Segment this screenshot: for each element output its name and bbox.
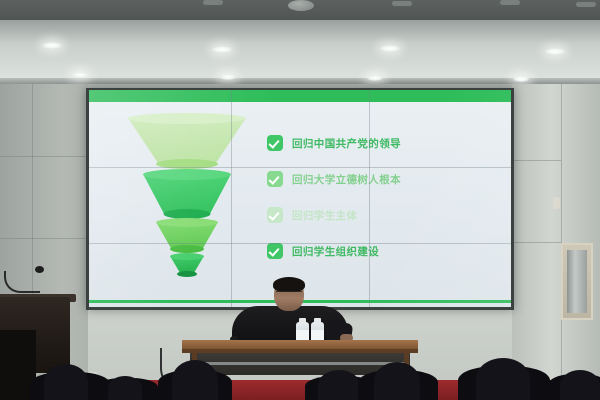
ceiling-vent-icon — [576, 2, 596, 7]
ceiling-downlight — [212, 46, 232, 53]
ceiling-downlight — [72, 72, 88, 78]
bottle-label — [296, 330, 309, 340]
smoke-detector-icon — [288, 0, 314, 11]
ceiling-downlight — [220, 74, 236, 80]
checklist-item-label: 回归中国共产党的领导 — [292, 136, 401, 151]
funnel-segment-1 — [128, 118, 246, 164]
checklist-item-label: 回归大学立德树人根本 — [292, 172, 401, 187]
funnel-cone-3 — [156, 222, 218, 248]
bottle-cap — [299, 318, 306, 323]
wall-panel-seam — [512, 160, 561, 161]
funnel-cone-2 — [143, 174, 231, 214]
funnel-cone-4 — [170, 256, 204, 272]
bottle-label — [311, 330, 324, 340]
videowall-seam-horizontal — [89, 167, 511, 168]
funnel-cone-bottom-ellipse-3 — [170, 245, 204, 253]
slide: 回归中国共产党的领导 回归大学立德树人根本 回归学生主体 回归学生组织建设 — [89, 90, 511, 307]
videowall-seam-vertical — [231, 90, 232, 307]
funnel-segment-3 — [156, 222, 218, 248]
table-top — [182, 340, 418, 349]
wall-niche-inner — [567, 250, 587, 313]
check-icon — [267, 171, 283, 187]
mic-gooseneck — [4, 271, 40, 293]
ceiling-vent-icon — [500, 0, 520, 5]
funnel-cone-bottom-ellipse-4 — [177, 271, 197, 277]
mic-head — [35, 266, 44, 273]
checklist-item-label: 回归学生主体 — [292, 208, 357, 223]
audience-head — [374, 362, 420, 400]
check-icon — [267, 135, 283, 151]
ceiling-downlight — [380, 45, 400, 52]
funnel-cone-top-ellipse-2 — [143, 169, 231, 180]
audience-head — [44, 364, 88, 400]
audience-head — [108, 376, 142, 400]
wall-switch[interactable] — [553, 197, 560, 209]
ceiling-downlight — [42, 42, 62, 49]
audience-head — [560, 370, 600, 400]
ceiling-downlight — [513, 76, 529, 82]
bottle-cap — [314, 318, 321, 323]
funnel-cone-top-ellipse-1 — [128, 113, 246, 124]
audience-head — [318, 370, 360, 400]
funnel-cone-top-ellipse-3 — [156, 218, 218, 227]
wall-panel-seam — [0, 156, 88, 157]
audience-head — [476, 358, 530, 400]
presentation-screen: 回归中国共产党的领导 回归大学立德树人根本 回归学生主体 回归学生组织建设 — [89, 90, 511, 307]
speaker-glasses-icon — [276, 291, 302, 297]
funnel-diagram — [127, 118, 247, 268]
funnel-segment-4 — [170, 256, 204, 272]
speaker-person — [232, 278, 348, 344]
videowall-seam-horizontal — [89, 243, 511, 244]
check-icon — [267, 207, 283, 223]
wall-panel-seam — [0, 238, 88, 239]
ceiling-vent-icon — [392, 1, 412, 6]
wall-equipment-niche — [561, 243, 593, 320]
slide-checklist: 回归中国共产党的领导 回归大学立德树人根本 回归学生主体 回归学生组织建设 — [267, 132, 503, 276]
table-rail — [196, 362, 404, 365]
slide-top-accent-bar — [89, 90, 511, 102]
wall-panel-seam — [512, 242, 561, 243]
funnel-segment-2 — [143, 174, 231, 214]
wall-panel-seam — [561, 84, 562, 400]
funnel-cone-body-1 — [128, 118, 246, 164]
ceiling-downlight — [367, 75, 383, 81]
videowall-seam-vertical — [369, 90, 370, 307]
ceiling-vent-icon — [203, 0, 223, 5]
check-icon — [267, 243, 283, 259]
checklist-item-3: 回归学生主体 — [267, 204, 503, 226]
funnel-cone-body-2 — [143, 174, 231, 214]
funnel-cone-top-ellipse-4 — [170, 253, 204, 260]
podium-microphone-icon — [4, 266, 44, 296]
funnel-cone-1 — [128, 118, 246, 164]
checklist-item-label: 回归学生组织建设 — [292, 244, 379, 259]
speaker-hair — [273, 277, 305, 292]
audience-head — [172, 360, 218, 400]
ceiling-downlight — [545, 48, 565, 55]
ceiling — [0, 20, 600, 82]
photo-scene: 回归中国共产党的领导 回归大学立德树人根本 回归学生主体 回归学生组织建设 — [0, 0, 600, 400]
checklist-item-1: 回归中国共产党的领导 — [267, 132, 503, 154]
checklist-item-2: 回归大学立德树人根本 — [267, 168, 503, 190]
